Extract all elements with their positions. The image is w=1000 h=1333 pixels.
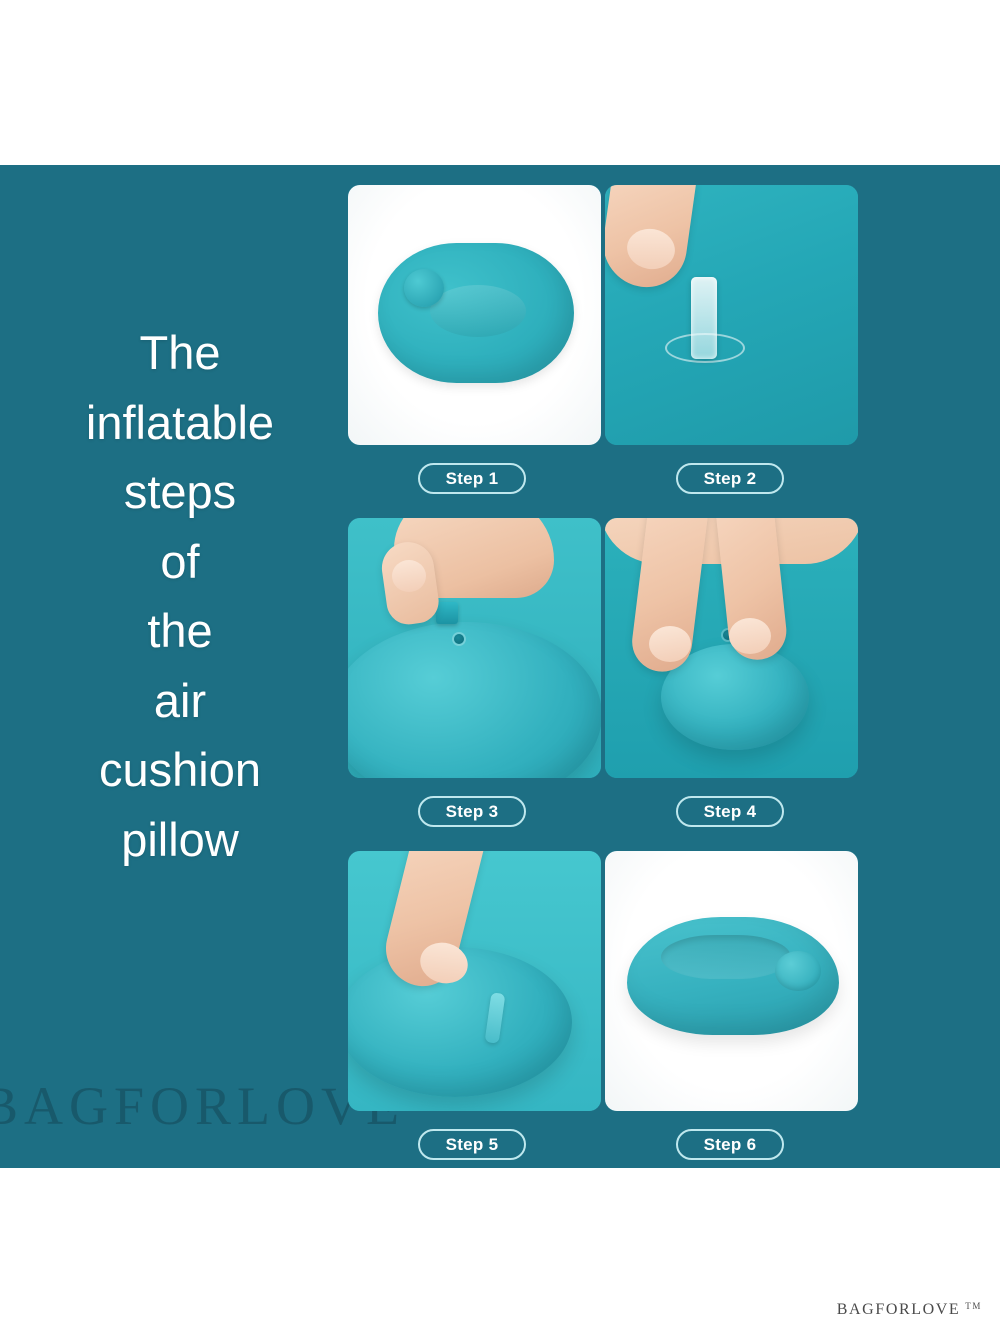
pillow-body [378,243,574,383]
deflated-pillow-photo [348,185,601,445]
center-watermark: BAGFORLOVE [0,1075,405,1137]
close-valve-photo [348,851,601,1111]
steps-labels-2: Step 3 Step 4 [348,778,858,851]
step-1-photo[interactable] [348,185,601,445]
open-valve-photo [348,518,601,778]
fingernail-middle [729,618,771,654]
step-2-photo[interactable] [605,185,858,445]
press-bladder-photo [605,518,858,778]
steps-row-3 [348,851,858,1111]
title-line-7: cushion [20,735,340,805]
title-line-5: the [20,596,340,666]
title-line-3: steps [20,457,340,527]
step-5-badge[interactable]: Step 5 [418,1129,526,1160]
brand-watermark: BAGFORLOVE TM [837,1301,982,1319]
valve-cap-icon [404,269,444,307]
trademark-mark: TM [965,1301,982,1311]
steps-labels-1: Step 1 Step 2 [348,445,858,518]
inflated-pillow-photo [605,851,858,1111]
step-6-badge[interactable]: Step 6 [676,1129,784,1160]
step-3-badge[interactable]: Step 3 [418,796,526,827]
title-line-8: pillow [20,805,340,875]
fingernail-index [649,626,691,662]
step-5-photo[interactable] [348,851,601,1111]
step-6-photo[interactable] [605,851,858,1111]
valve-hole-icon [454,634,464,644]
air-bladder [348,622,601,778]
product-infographic: BAGFORLOVE The inflatable steps of the a… [0,0,1000,1333]
step-2-badge[interactable]: Step 2 [676,463,784,494]
title-line-1: The [20,318,340,388]
valve-knob-icon [775,951,821,991]
pillow-body [627,917,839,1035]
steps-grid: Step 1 Step 2 [348,185,858,1168]
step-4-badge[interactable]: Step 4 [676,796,784,827]
brand-name: BAGFORLOVE [837,1301,961,1319]
step-3-photo[interactable] [348,518,601,778]
pull-valve-photo [605,185,858,445]
title-line-4: of [20,527,340,597]
title-line-6: air [20,666,340,736]
steps-row-2 [348,518,858,778]
steps-labels-3: Step 5 Step 6 [348,1111,858,1168]
title-line-2: inflatable [20,388,340,458]
valve-stem-icon [691,277,717,359]
teal-banner: BAGFORLOVE The inflatable steps of the a… [0,165,1000,1168]
pillow-groove [661,935,791,979]
valve-tab-icon [436,602,458,624]
thumbnail [392,560,426,592]
step-4-photo[interactable] [605,518,858,778]
steps-row-1 [348,185,858,445]
step-1-badge[interactable]: Step 1 [418,463,526,494]
page-title: The inflatable steps of the air cushion … [20,318,340,874]
